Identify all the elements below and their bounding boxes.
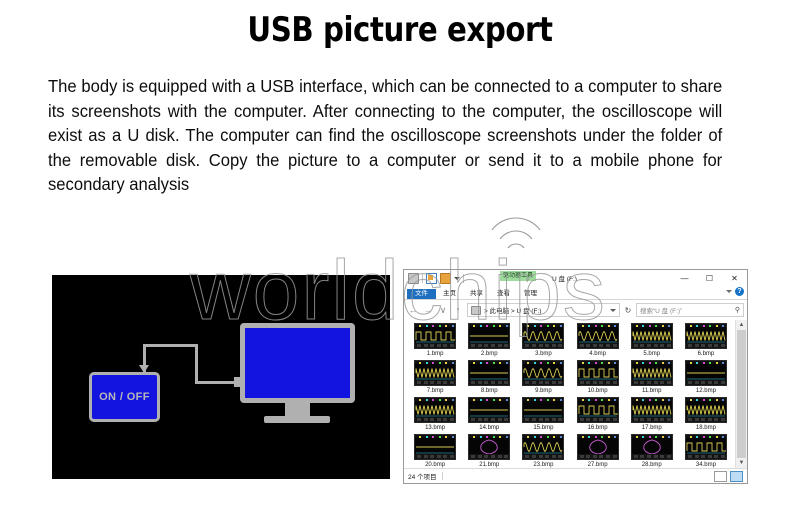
file-name-label: 23.bmp [533, 462, 553, 468]
file-name-label: 4.bmp [589, 351, 606, 357]
file-thumbnail [468, 397, 510, 423]
file-list-area: 1.bmp2.bmp3.bmp4.bmp5.bmp6.bmp7.bmp8.bmp… [404, 320, 747, 468]
file-thumbnail [685, 397, 727, 423]
file-thumbnail [522, 434, 564, 460]
thumbnail-readout-bar [523, 343, 563, 348]
thumbnail-readout-bar [415, 417, 455, 422]
file-thumbnail [522, 397, 564, 423]
address-path-field[interactable]: > 此电脑 > U 盘 (F:) [467, 303, 620, 317]
file-thumbnail [468, 360, 510, 386]
file-item[interactable]: 4.bmp [571, 323, 625, 360]
item-count-label: 24 个项目 [408, 471, 437, 481]
explorer-titlebar: 驱动器工具 U 盘 (F:) — ☐ ✕ ? [404, 270, 747, 287]
file-thumbnail [577, 434, 619, 460]
file-name-label: 5.bmp [643, 351, 660, 357]
thumbnail-readout-bar [632, 417, 672, 422]
file-thumbnail [685, 434, 727, 460]
file-name-label: 17.bmp [642, 425, 662, 431]
file-thumbnail [468, 323, 510, 349]
thumbnail-readout-bar [632, 454, 672, 459]
file-thumbnail [414, 397, 456, 423]
file-thumbnail [414, 360, 456, 386]
file-name-label: 1.bmp [427, 351, 444, 357]
file-name-label: 3.bmp [535, 351, 552, 357]
scroll-up-icon[interactable]: ▲ [739, 320, 745, 330]
file-thumbnail [577, 397, 619, 423]
dropdown-caret-icon[interactable] [454, 277, 460, 280]
file-item[interactable]: 18.bmp [679, 397, 733, 434]
file-name-label: 6.bmp [698, 351, 715, 357]
drive-icon[interactable] [408, 273, 419, 284]
file-item[interactable]: 27.bmp [571, 434, 625, 471]
recent-locations-button[interactable]: ∨ [437, 305, 449, 316]
thumbnail-readout-bar [686, 417, 726, 422]
file-thumbnail [577, 360, 619, 386]
thumbnail-readout-bar [632, 343, 672, 348]
file-name-label: 9.bmp [535, 388, 552, 394]
scroll-down-icon[interactable]: ▼ [739, 458, 745, 468]
file-item[interactable]: 17.bmp [625, 397, 679, 434]
tab-share[interactable]: 共享 [463, 290, 490, 300]
vertical-scrollbar[interactable]: ▲ ▼ [735, 320, 747, 468]
properties-icon[interactable] [426, 273, 437, 284]
thumbnail-readout-bar [632, 380, 672, 385]
file-item[interactable]: 20.bmp [408, 434, 462, 471]
contextual-tab-drive-tools[interactable]: 驱动器工具 [500, 271, 536, 281]
file-thumbnail [685, 360, 727, 386]
thumbnail-readout-bar [686, 454, 726, 459]
chevron-down-icon[interactable] [610, 309, 616, 312]
search-placeholder: 搜索“U 盘 (F:)” [640, 305, 682, 315]
wifi-icon [488, 214, 544, 263]
file-name-label: 13.bmp [425, 425, 445, 431]
file-thumbnail [631, 360, 673, 386]
address-bar: ← → ∨ ↑ > 此电脑 > U 盘 (F:) ↻ 搜索“U 盘 (F:)” … [404, 300, 747, 320]
up-button[interactable]: ↑ [452, 305, 464, 315]
view-mode-buttons [714, 471, 743, 482]
thumbnail-readout-bar [469, 380, 509, 385]
maximize-button[interactable]: ☐ [697, 270, 722, 287]
file-name-label: 18.bmp [696, 425, 716, 431]
window-controls: — ☐ ✕ [672, 270, 747, 287]
thumbnail-readout-bar [578, 417, 618, 422]
file-item[interactable]: 16.bmp [571, 397, 625, 434]
forward-button[interactable]: → [422, 305, 434, 315]
folder-icon[interactable] [440, 273, 451, 284]
file-item[interactable]: 9.bmp [516, 360, 570, 397]
file-item[interactable]: 5.bmp [625, 323, 679, 360]
file-item[interactable]: 2.bmp [462, 323, 516, 360]
file-item[interactable]: 1.bmp [408, 323, 462, 360]
file-thumbnail [522, 360, 564, 386]
file-item[interactable]: 23.bmp [516, 434, 570, 471]
file-item[interactable]: 21.bmp [462, 434, 516, 471]
monitor-stand-base [264, 416, 330, 423]
file-item[interactable]: 14.bmp [462, 397, 516, 434]
page-title: USB picture export [56, 10, 744, 50]
file-item[interactable]: 10.bmp [571, 360, 625, 397]
file-name-label: 2.bmp [481, 351, 498, 357]
file-name-label: 21.bmp [479, 462, 499, 468]
drive-icon [471, 306, 481, 315]
thumbnail-readout-bar [578, 380, 618, 385]
file-thumbnail [414, 434, 456, 460]
quick-access-toolbar[interactable] [404, 273, 464, 284]
thumbnail-readout-bar [415, 343, 455, 348]
window-title: U 盘 (F:) [552, 273, 577, 283]
toolbar-divider [463, 274, 464, 283]
file-item[interactable]: 8.bmp [462, 360, 516, 397]
thumbnail-readout-bar [578, 343, 618, 348]
file-name-label: 12.bmp [696, 388, 716, 394]
file-item[interactable]: 28.bmp [625, 434, 679, 471]
thumbnail-readout-bar [415, 380, 455, 385]
address-path-text: > 此电脑 > U 盘 (F:) [484, 305, 541, 315]
thumbnail-view-icon[interactable] [730, 471, 743, 482]
thumbnail-readout-bar [578, 454, 618, 459]
file-name-label: 8.bmp [481, 388, 498, 394]
refresh-button[interactable]: ↻ [623, 306, 633, 315]
file-name-label: 11.bmp [642, 388, 662, 394]
file-item[interactable]: 11.bmp [625, 360, 679, 397]
thumbnail-readout-bar [686, 380, 726, 385]
close-button[interactable]: ✕ [722, 270, 747, 287]
thumbnail-readout-bar [469, 343, 509, 348]
monitor-stand-neck [285, 403, 310, 416]
file-explorer-window: 驱动器工具 U 盘 (F:) — ☐ ✕ ? 文件 主页 共享 查看 管理 ← … [403, 269, 748, 484]
monitor-screen [245, 328, 350, 398]
tab-manage[interactable]: 管理 [517, 290, 544, 300]
file-name-label: 20.bmp [425, 462, 445, 468]
thumbnail-readout-bar [686, 343, 726, 348]
file-thumbnail [685, 323, 727, 349]
file-item[interactable]: 34.bmp [679, 434, 733, 471]
minimize-button[interactable]: — [672, 270, 697, 287]
file-name-label: 14.bmp [479, 425, 499, 431]
file-thumbnail [631, 397, 673, 423]
file-name-label: 15.bmp [533, 425, 553, 431]
cable-segment [143, 344, 198, 347]
file-thumbnail [522, 323, 564, 349]
tab-file[interactable]: 文件 [407, 289, 436, 300]
file-thumbnail [577, 323, 619, 349]
scrollbar-thumb[interactable] [737, 330, 746, 458]
file-thumbnail [631, 434, 673, 460]
file-item[interactable]: 13.bmp [408, 397, 462, 434]
thumbnail-readout-bar [523, 380, 563, 385]
file-name-label: 27.bmp [588, 462, 608, 468]
file-name-label: 28.bmp [642, 462, 662, 468]
file-grid: 1.bmp2.bmp3.bmp4.bmp5.bmp6.bmp7.bmp8.bmp… [404, 320, 735, 468]
file-item[interactable]: 15.bmp [516, 397, 570, 434]
file-name-label: 34.bmp [696, 462, 716, 468]
file-name-label: 7.bmp [427, 388, 444, 394]
file-thumbnail [468, 434, 510, 460]
file-name-label: 10.bmp [588, 388, 608, 394]
file-thumbnail [414, 323, 456, 349]
toolbar-divider [422, 274, 423, 283]
device-label: ON / OFF [99, 391, 150, 403]
status-divider [442, 472, 443, 480]
file-item[interactable]: 6.bmp [679, 323, 733, 360]
cable-segment [195, 344, 198, 383]
file-item[interactable]: 12.bmp [679, 360, 733, 397]
ribbon-tabs: 文件 主页 共享 查看 管理 [404, 287, 747, 300]
thumbnail-readout-bar [523, 454, 563, 459]
oscilloscope-device: ON / OFF [89, 372, 160, 422]
details-view-icon[interactable] [714, 471, 727, 482]
thumbnail-readout-bar [523, 417, 563, 422]
search-icon: ⚲ [735, 306, 740, 314]
file-name-label: 16.bmp [588, 425, 608, 431]
thumbnail-readout-bar [469, 417, 509, 422]
usb-connection-illustration: ON / OFF [52, 275, 390, 479]
back-button[interactable]: ← [407, 305, 419, 315]
computer-monitor [240, 323, 355, 403]
thumbnail-readout-bar [469, 454, 509, 459]
body-paragraph: The body is equipped with a USB interfac… [48, 74, 722, 197]
search-input[interactable]: 搜索“U 盘 (F:)” ⚲ [636, 303, 744, 317]
file-thumbnail [631, 323, 673, 349]
file-item[interactable]: 7.bmp [408, 360, 462, 397]
file-item[interactable]: 3.bmp [516, 323, 570, 360]
tab-home[interactable]: 主页 [436, 290, 463, 300]
tab-view[interactable]: 查看 [490, 290, 517, 300]
thumbnail-readout-bar [415, 454, 455, 459]
